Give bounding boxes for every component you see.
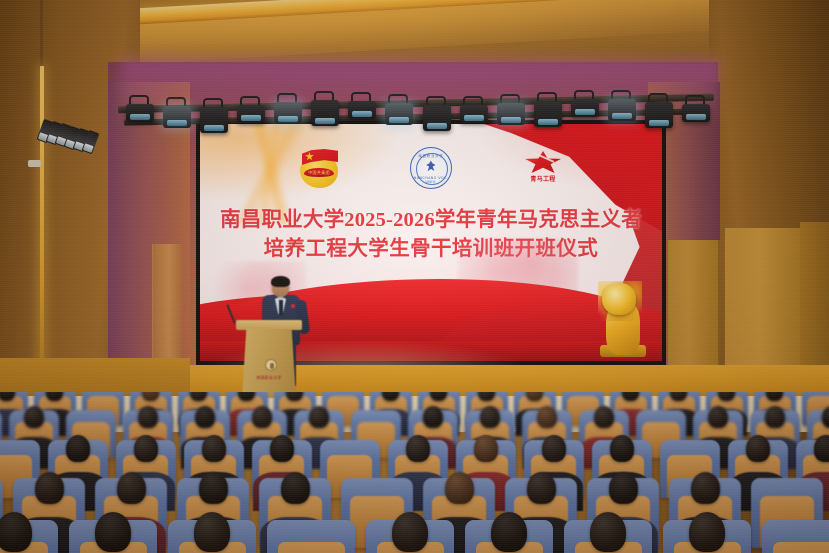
stage-light-fixture — [608, 99, 636, 121]
fixture-lens — [315, 118, 335, 124]
fixture-lens — [649, 120, 669, 126]
lectern-top — [236, 320, 302, 330]
audience-member-head — [423, 406, 443, 428]
overhead-lighting-truss — [118, 92, 714, 144]
fixture-lens — [352, 111, 372, 117]
audience-member-head — [814, 435, 829, 462]
audience-member-head — [66, 435, 90, 462]
audience-member-head — [542, 435, 566, 462]
stage-light-fixture — [571, 99, 599, 117]
audience-member-head — [0, 512, 32, 552]
headline-line-1: 南昌职业大学2025-2026学年青年马克思主义者 — [200, 206, 662, 235]
audience-member-head — [202, 435, 226, 462]
audience-member-head — [765, 406, 785, 428]
audience-member-head — [708, 406, 728, 428]
cyl-banner-label: 中国共青团 — [304, 168, 334, 177]
stage-light-fixture — [126, 104, 154, 122]
stage-light-fixture — [163, 106, 191, 128]
audience-member-head — [445, 472, 474, 504]
screen-headline: 南昌职业大学2025-2026学年青年马克思主义者 培养工程大学生骨干培训班开班… — [200, 206, 662, 264]
audience-member-head — [594, 406, 614, 428]
fixture-lens — [389, 117, 409, 123]
audience-member-head — [199, 472, 228, 504]
audience-member-head — [590, 512, 626, 552]
audience-member-head — [194, 512, 230, 552]
stage-light-fixture — [274, 102, 302, 124]
communist-youth-league-emblem-icon: 中国共青团 — [297, 146, 341, 190]
screen-logo-row: 中国共青团 南昌职业大学 NANCHANG VOC. UNIV. 青马工程 — [200, 146, 662, 190]
audience-member-head — [309, 406, 329, 428]
fixture-lens — [427, 123, 447, 129]
audience-member-head — [610, 435, 634, 462]
fixture-lens — [686, 114, 706, 120]
fixture-lens — [538, 119, 558, 125]
audience-member-head — [117, 472, 146, 504]
speaker-lapel-pin-icon — [291, 304, 295, 308]
fixture-lens — [204, 125, 224, 131]
lectern: 南昌职业大学 — [240, 320, 298, 398]
audience-member-head — [474, 435, 498, 462]
fixture-lens — [130, 114, 150, 120]
audience-member-head — [138, 406, 158, 428]
audience-member-head — [35, 472, 64, 504]
audience-member-head — [689, 512, 725, 552]
auditorium-seat — [267, 520, 355, 553]
audience-member-head — [281, 472, 310, 504]
audience-member-head — [746, 435, 770, 462]
par-can-lens — [83, 143, 94, 153]
stage-light-fixture — [348, 101, 376, 119]
stage-light-fixture — [460, 105, 488, 123]
auditorium-photo: 中国共青团 南昌职业大学 NANCHANG VOC. UNIV. 青马工程 — [0, 0, 829, 553]
stage-light-fixture — [200, 107, 228, 133]
stage-light-fixture — [682, 104, 710, 122]
speaker-hair — [271, 276, 290, 287]
audience-member-head — [252, 406, 272, 428]
audience-member-head — [609, 472, 638, 504]
speaker-tie — [279, 300, 283, 315]
audience-member-head — [691, 472, 720, 504]
lectern-plate-text: 南昌职业大学 — [242, 375, 296, 381]
audience-member-head — [95, 512, 131, 552]
fixture-lens — [167, 120, 187, 126]
audience-member-head — [195, 406, 215, 428]
seal-label-top: 南昌职业大学 — [411, 153, 451, 158]
seal-outer-ring: 南昌职业大学 NANCHANG VOC. UNIV. — [410, 147, 452, 189]
par-can-cluster — [40, 116, 104, 162]
qingma-star-icon — [525, 151, 561, 173]
qingma-project-logo-icon: 青马工程 — [521, 146, 565, 190]
stage-light-fixture — [237, 105, 265, 123]
fixture-lens — [278, 116, 298, 122]
auditorium-seat — [762, 520, 829, 553]
audience-member-head — [491, 512, 527, 552]
fixture-lens — [575, 109, 595, 115]
seal-label-bottom: NANCHANG VOC. UNIV. — [411, 176, 451, 184]
cyl-banner: 中国共青团 — [304, 168, 334, 177]
audience-member-head — [537, 406, 557, 428]
stage-light-fixture — [385, 103, 413, 125]
lectern-crest-icon — [265, 359, 277, 371]
audience-member-head — [134, 435, 158, 462]
audience-member-head — [406, 435, 430, 462]
headline-line-2: 培养工程大学生骨干培训班开班仪式 — [200, 235, 662, 264]
gold-lion-statue-graphic — [600, 273, 646, 355]
audience-member-head — [527, 472, 556, 504]
fixture-lens — [241, 115, 261, 121]
audience-seating — [0, 392, 829, 553]
seat-wooden-back — [278, 542, 345, 553]
stage-light-fixture — [497, 103, 525, 125]
fixture-lens — [464, 115, 484, 121]
qingma-label: 青马工程 — [521, 174, 565, 183]
audience-member-head — [270, 435, 294, 462]
stage-light-fixture — [645, 102, 673, 128]
audience-member-head — [392, 512, 428, 552]
stage-light-fixture — [423, 105, 451, 131]
stage-light-fixture — [534, 101, 562, 127]
audience-member-head — [480, 406, 500, 428]
lectern-body: 南昌职业大学 — [242, 329, 296, 398]
fixture-lens — [501, 117, 521, 123]
university-seal-icon: 南昌职业大学 NANCHANG VOC. UNIV. — [409, 146, 453, 190]
audience-member-head — [24, 406, 44, 428]
stage-light-fixture — [311, 100, 339, 126]
fixture-lens — [612, 113, 632, 119]
lion-head — [602, 283, 636, 315]
seat-wooden-back — [773, 542, 829, 553]
